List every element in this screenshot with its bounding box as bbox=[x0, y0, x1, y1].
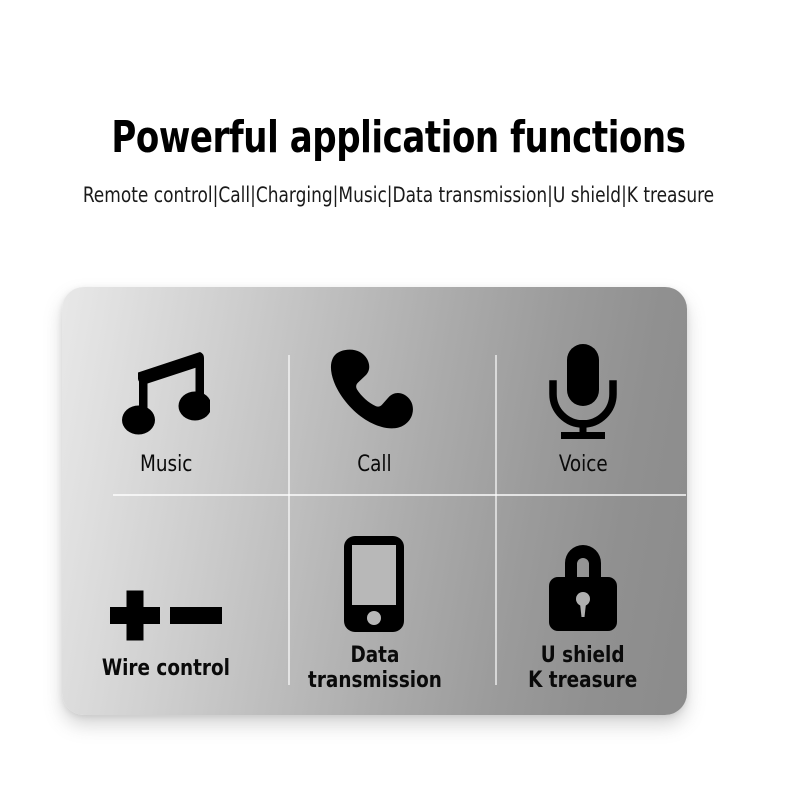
feature-cell-voice[interactable]: Voice bbox=[479, 287, 687, 501]
page-title: Powerful application functions bbox=[56, 112, 741, 164]
grid-divider-vertical-1 bbox=[288, 355, 290, 685]
product-feature-banner: Powerful application functions Remote co… bbox=[0, 0, 797, 800]
feature-cell-data-transmission[interactable]: Data transmission bbox=[270, 501, 478, 715]
feature-label: Voice bbox=[558, 452, 607, 477]
feature-cell-call[interactable]: Call bbox=[270, 287, 478, 501]
grid-divider-vertical-2 bbox=[495, 355, 497, 685]
padlock-icon bbox=[543, 529, 623, 633]
feature-label: Call bbox=[357, 452, 391, 477]
feature-cell-wire-control[interactable]: Wire control bbox=[62, 501, 270, 715]
music-note-icon bbox=[122, 338, 210, 442]
header: Powerful application functions Remote co… bbox=[0, 112, 797, 208]
feature-cell-music[interactable]: Music bbox=[62, 287, 270, 501]
feature-cell-u-shield[interactable]: U shield K treasure bbox=[479, 501, 687, 715]
feature-grid: Music Call bbox=[62, 287, 687, 715]
feature-label: Wire control bbox=[102, 656, 230, 681]
feature-label: U shield K treasure bbox=[528, 643, 637, 693]
phone-handset-icon bbox=[328, 338, 420, 442]
grid-divider-horizontal bbox=[113, 494, 686, 496]
feature-label: Music bbox=[140, 452, 192, 477]
smartphone-icon bbox=[343, 529, 405, 633]
feature-label: Data transmission bbox=[308, 643, 442, 693]
plus-minus-icon bbox=[110, 542, 222, 646]
page-subtitle: Remote control|Call|Charging|Music|Data … bbox=[40, 182, 757, 208]
feature-card: Music Call bbox=[62, 287, 687, 715]
microphone-icon bbox=[541, 338, 625, 442]
